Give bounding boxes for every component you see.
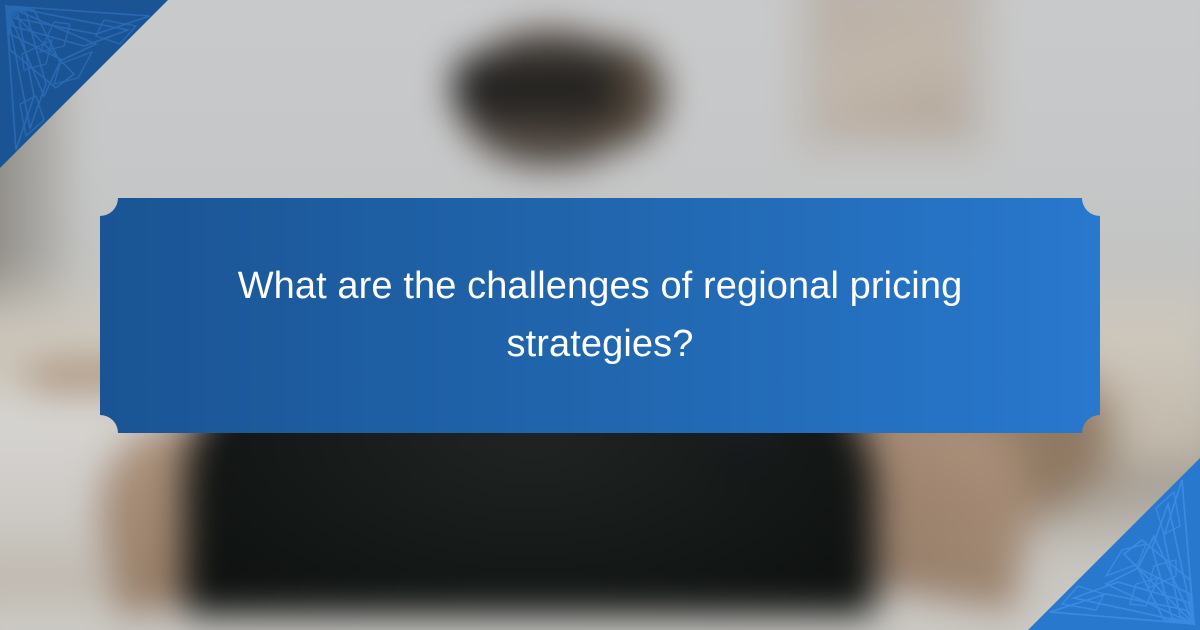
- photo-vr-headset: [454, 56, 619, 116]
- headline-text: What are the challenges of regional pric…: [178, 258, 1022, 374]
- social-card: What are the challenges of regional pric…: [0, 0, 1200, 630]
- corner-ornament-top-left-icon: [0, 0, 170, 170]
- corner-ornament-bottom-right-icon: [1020, 450, 1200, 630]
- banner-text-wrapper: What are the challenges of regional pric…: [100, 198, 1100, 433]
- photo-picture-art: [822, 0, 962, 132]
- headline-banner: What are the challenges of regional pric…: [100, 198, 1100, 433]
